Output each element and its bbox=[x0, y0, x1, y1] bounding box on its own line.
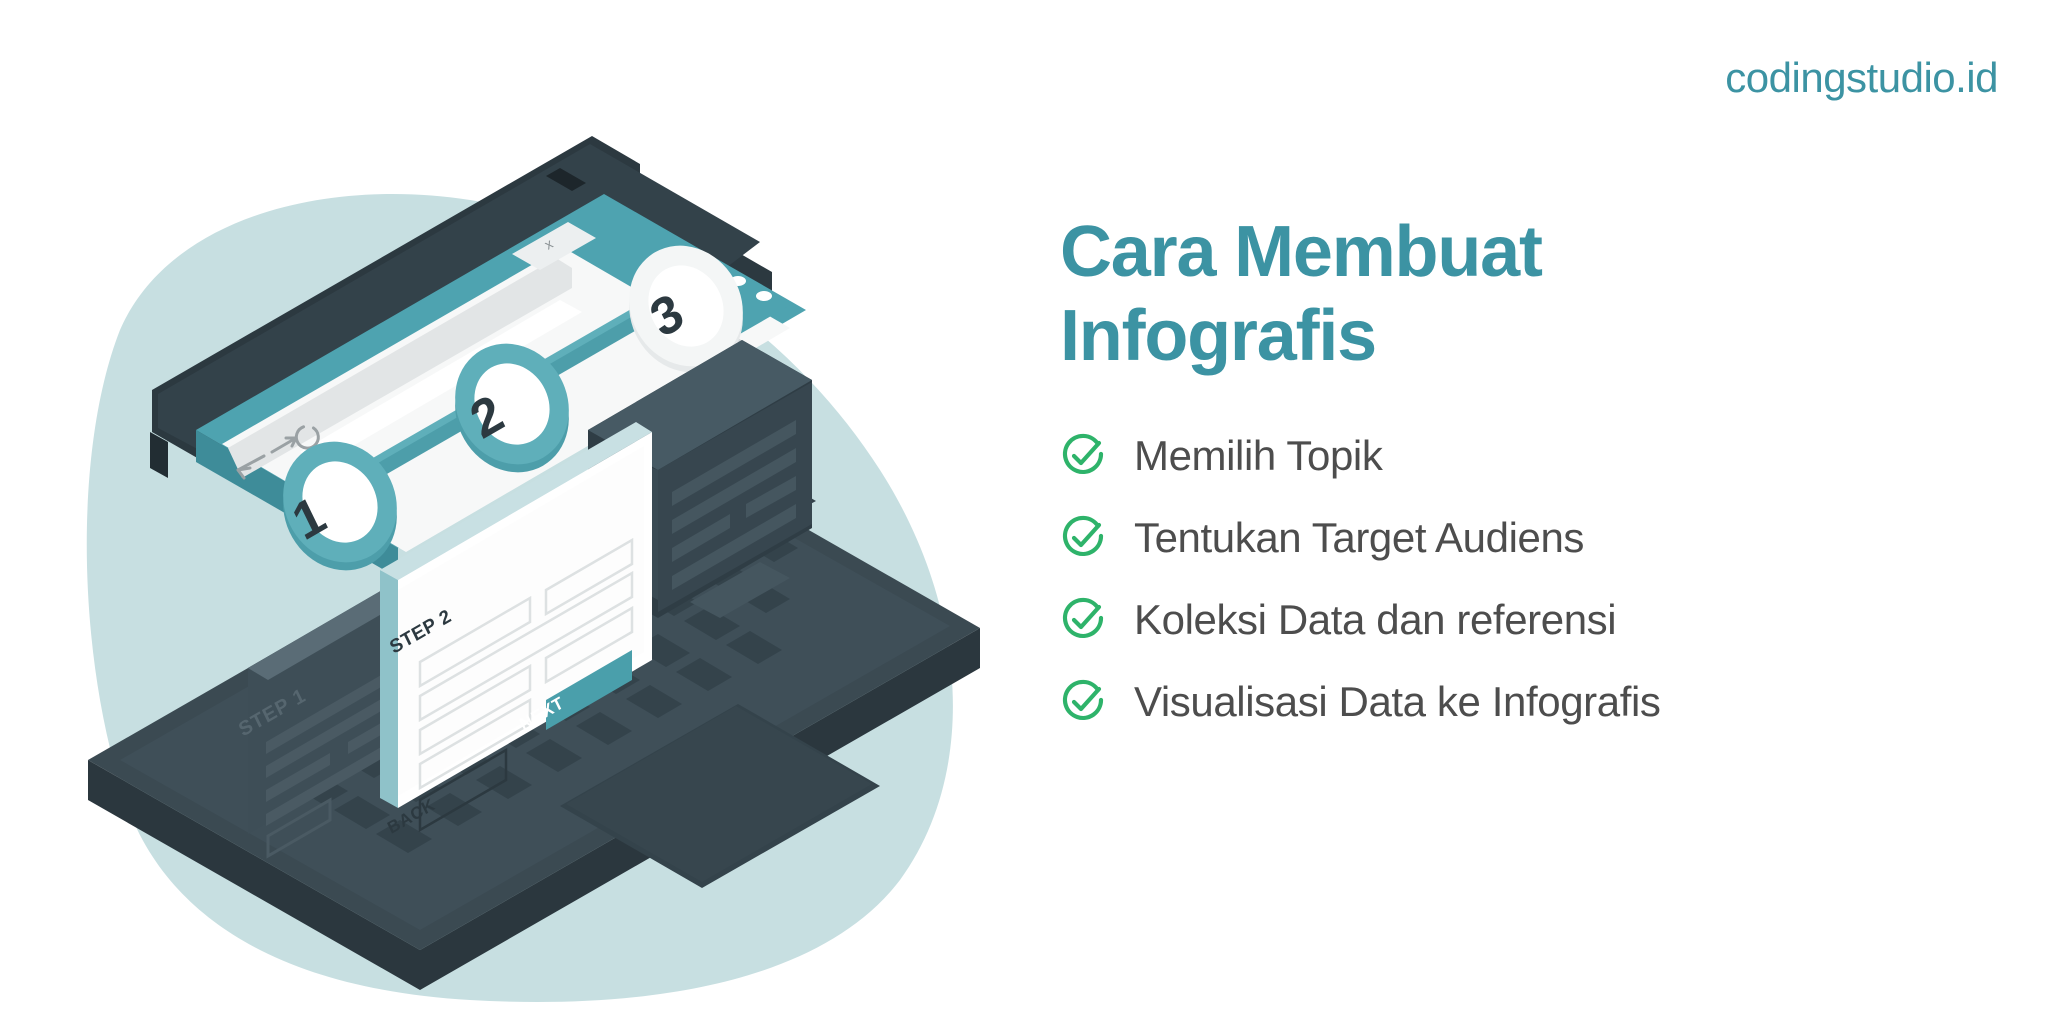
list-item: Visualisasi Data ke Infografis bbox=[1060, 678, 2010, 726]
page-title: Cara Membuat Infografis bbox=[1060, 210, 2010, 378]
list-item-label: Tentukan Target Audiens bbox=[1134, 514, 1584, 562]
content-column: Cara Membuat Infografis Memilih Topik bbox=[1060, 210, 2010, 760]
list-item: Koleksi Data dan referensi bbox=[1060, 596, 2010, 644]
window-dot bbox=[756, 291, 772, 301]
check-circle-icon bbox=[1060, 432, 1108, 480]
list-item: Memilih Topik bbox=[1060, 432, 2010, 480]
page-title-line-2: Infografis bbox=[1060, 294, 2010, 378]
check-circle-icon bbox=[1060, 678, 1108, 726]
poster-root: x 1 bbox=[0, 0, 2048, 1024]
checklist: Memilih Topik Tentukan Target Audiens bbox=[1060, 432, 2010, 726]
list-item-label: Visualisasi Data ke Infografis bbox=[1134, 678, 1661, 726]
check-circle-icon bbox=[1060, 596, 1108, 644]
list-item-label: Memilih Topik bbox=[1134, 432, 1382, 480]
check-circle-icon bbox=[1060, 514, 1108, 562]
page-title-line-1: Cara Membuat bbox=[1060, 210, 2010, 294]
brand-logo[interactable]: codingstudio.id bbox=[1725, 54, 1998, 102]
list-item-label: Koleksi Data dan referensi bbox=[1134, 596, 1616, 644]
list-item: Tentukan Target Audiens bbox=[1060, 514, 2010, 562]
laptop-illustration: x 1 bbox=[0, 0, 1030, 1024]
